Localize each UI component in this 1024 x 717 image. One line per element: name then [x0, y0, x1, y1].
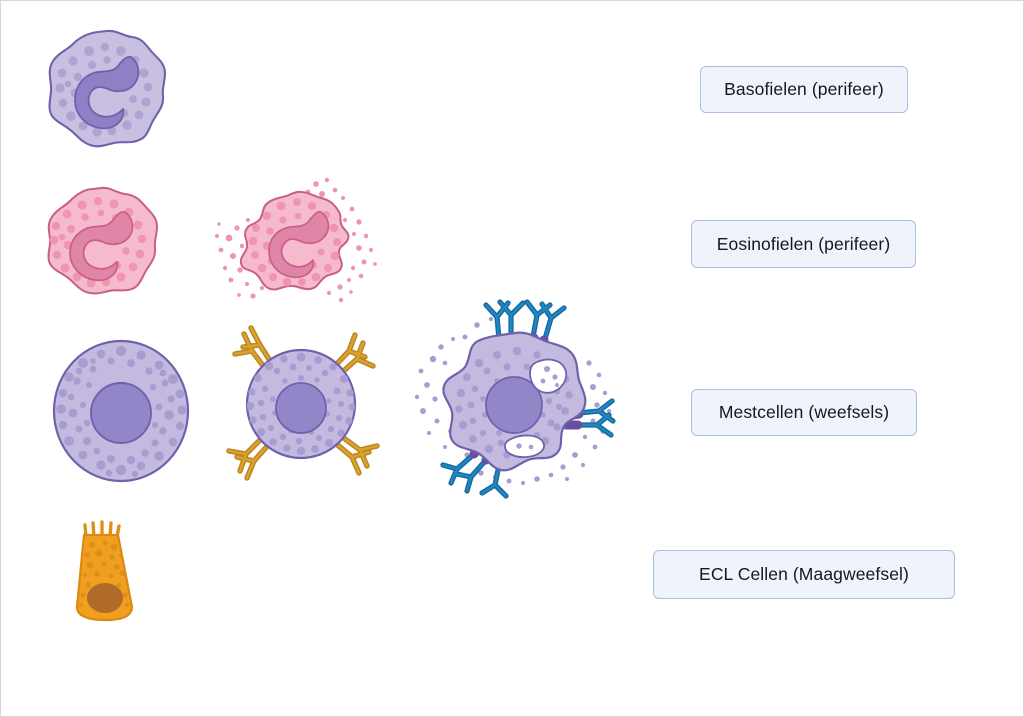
eosinophil-degranulating-illustration — [209, 176, 387, 315]
label-basofielen-text: Basofielen (perifeer) — [724, 79, 884, 100]
eosinophil-resting-illustration — [41, 184, 161, 303]
mast-cell-resting-illustration — [49, 337, 194, 490]
diagram-canvas: Basofielen (perifeer) — [0, 0, 1024, 717]
label-mestcellen-text: Mestcellen (weefsels) — [719, 402, 889, 423]
mast-cell-ige-coated-illustration — [213, 301, 389, 506]
label-eosinofielen[interactable]: Eosinofielen (perifeer) — [691, 220, 916, 268]
basophil-resting-illustration — [45, 27, 169, 156]
mast-cell-activated-illustration — [407, 297, 625, 514]
label-mestcellen[interactable]: Mestcellen (weefsels) — [691, 389, 917, 436]
label-basofielen[interactable]: Basofielen (perifeer) — [700, 66, 908, 113]
label-ecl-cellen-text: ECL Cellen (Maagweefsel) — [699, 564, 909, 585]
label-eosinofielen-text: Eosinofielen (perifeer) — [717, 234, 891, 255]
ecl-cell-illustration — [59, 519, 149, 629]
label-ecl-cellen[interactable]: ECL Cellen (Maagweefsel) — [653, 550, 955, 599]
